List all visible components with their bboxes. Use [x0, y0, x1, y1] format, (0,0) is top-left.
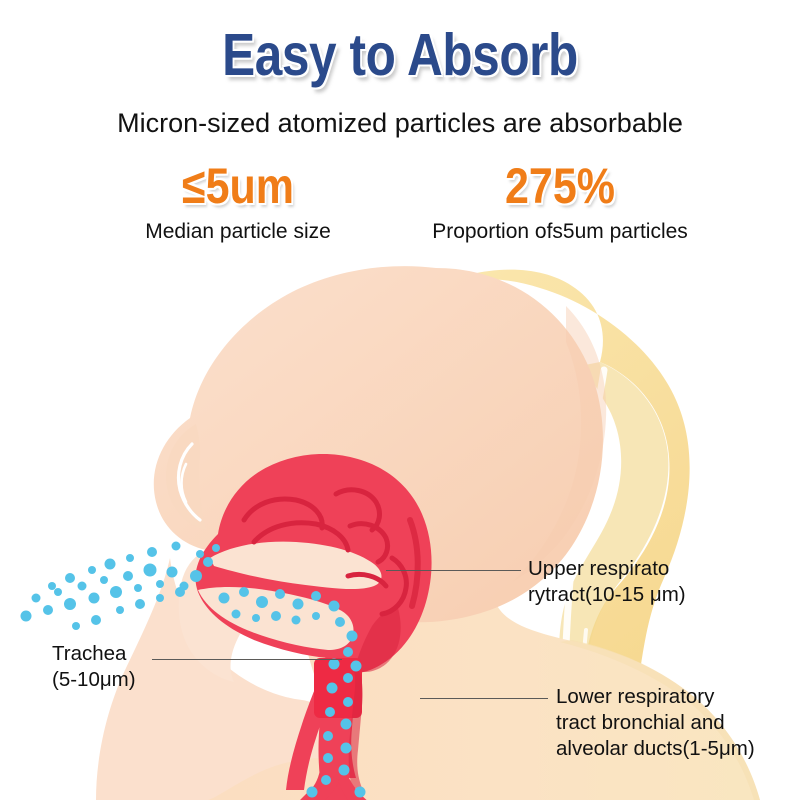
page-title: Easy to Absorb	[64, 24, 736, 86]
page-subtitle: Micron-sized atomized particles are abso…	[0, 106, 800, 140]
leader-line-upper	[386, 570, 521, 571]
leader-line-lower	[420, 698, 548, 699]
stat-caption: Proportion ofs5um particles	[380, 219, 740, 245]
stat-value: 275%	[405, 158, 715, 214]
callout-line: rytract(10-15 μm)	[528, 582, 686, 608]
callout-line: (5-10μm)	[52, 667, 136, 693]
trachea	[314, 654, 363, 788]
leader-line-trachea	[152, 659, 342, 660]
callout-line: Upper respirato	[528, 556, 686, 582]
callout-line: tract bronchial and	[556, 710, 755, 736]
callout-line: Lower respiratory	[556, 684, 755, 710]
callout-line: Trachea	[52, 641, 136, 667]
stat-caption: Median particle size	[58, 219, 418, 245]
stat-value: ≤5um	[83, 158, 393, 214]
stat-proportion-5um: 275% Proportion ofs5um particles	[380, 158, 740, 245]
callout-upper-respiratory-tract: Upper respirato rytract(10-15 μm)	[528, 556, 686, 608]
stats-row: ≤5um Median particle size 275% Proportio…	[0, 158, 800, 258]
callout-line: alveolar ducts(1-5μm)	[556, 736, 755, 762]
callout-trachea: Trachea (5-10μm)	[52, 641, 136, 693]
infographic-page: Easy to Absorb Micron-sized atomized par…	[0, 0, 800, 800]
callout-lower-respiratory-tract: Lower respiratory tract bronchial and al…	[556, 684, 755, 762]
stat-median-particle-size: ≤5um Median particle size	[58, 158, 418, 245]
